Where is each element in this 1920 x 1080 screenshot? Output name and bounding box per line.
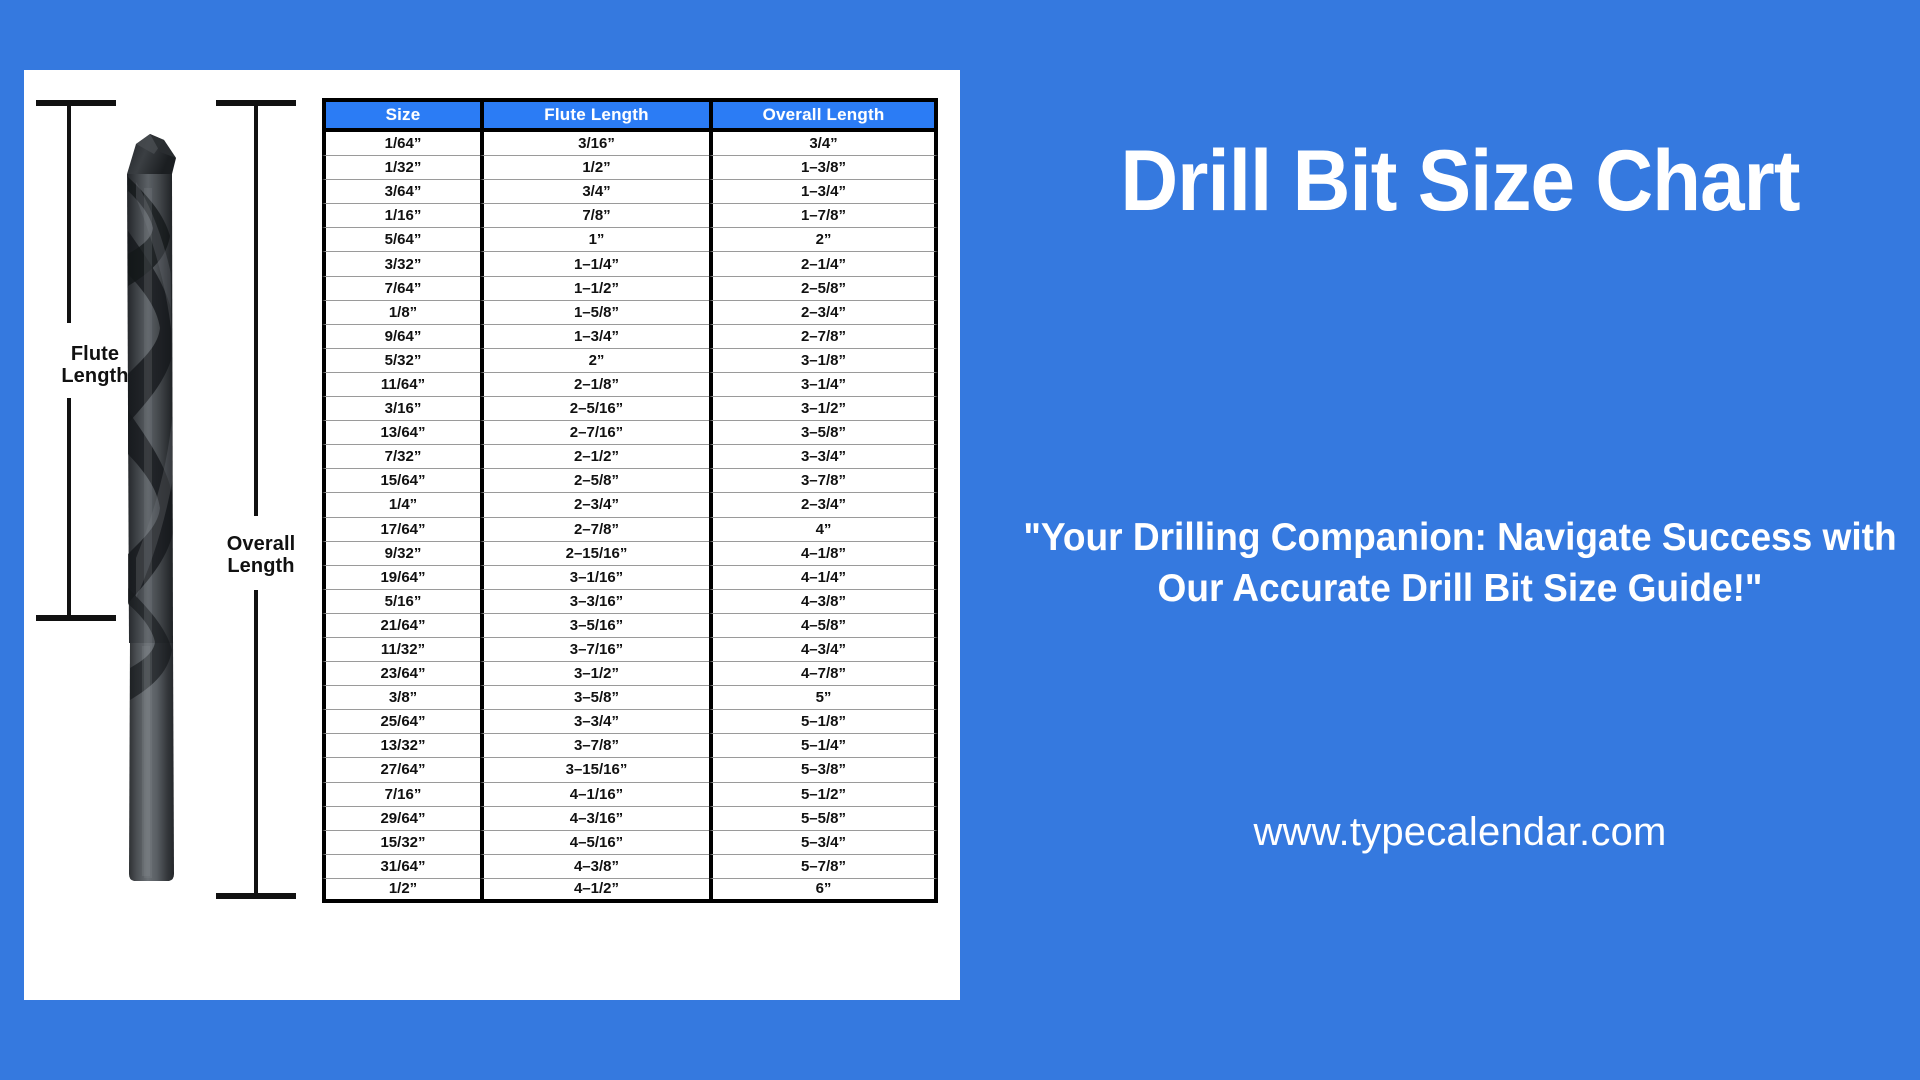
cell-flute-length: 2” bbox=[480, 349, 709, 373]
column-header-size: Size bbox=[322, 98, 480, 132]
cell-overall-length: 5–1/8” bbox=[709, 710, 938, 734]
cell-overall-length: 2–1/4” bbox=[709, 252, 938, 276]
drill-bit-figure: Flute Length Overall Length bbox=[24, 78, 324, 993]
cell-size: 3/32” bbox=[322, 252, 480, 276]
cell-overall-length: 1–3/8” bbox=[709, 156, 938, 180]
table-row: 3/8”3–5/8”5” bbox=[322, 686, 938, 710]
table-row: 7/32”2–1/2”3–3/4” bbox=[322, 445, 938, 469]
cell-flute-length: 3–1/2” bbox=[480, 662, 709, 686]
cell-flute-length: 3–3/16” bbox=[480, 590, 709, 614]
cell-flute-length: 2–5/8” bbox=[480, 469, 709, 493]
table-row: 1/8”1–5/8”2–3/4” bbox=[322, 301, 938, 325]
cell-size: 3/16” bbox=[322, 397, 480, 421]
table-row: 1/64”3/16”3/4” bbox=[322, 132, 938, 156]
cell-overall-length: 3/4” bbox=[709, 132, 938, 156]
cell-flute-length: 3–1/16” bbox=[480, 566, 709, 590]
cell-flute-length: 2–3/4” bbox=[480, 493, 709, 517]
cell-flute-length: 1–1/2” bbox=[480, 277, 709, 301]
table-row: 13/32”3–7/8”5–1/4” bbox=[322, 734, 938, 758]
drill-bit-size-table-container: Size Flute Length Overall Length 1/64”3/… bbox=[322, 98, 938, 903]
cell-overall-length: 4–5/8” bbox=[709, 614, 938, 638]
cell-flute-length: 2–5/16” bbox=[480, 397, 709, 421]
cell-size: 9/64” bbox=[322, 325, 480, 349]
cell-size: 1/16” bbox=[322, 204, 480, 228]
cell-flute-length: 1–5/8” bbox=[480, 301, 709, 325]
cell-size: 1/32” bbox=[322, 156, 480, 180]
cell-size: 5/16” bbox=[322, 590, 480, 614]
column-header-overall-length: Overall Length bbox=[709, 98, 938, 132]
cell-overall-length: 4–3/8” bbox=[709, 590, 938, 614]
cell-flute-length: 2–7/16” bbox=[480, 421, 709, 445]
cell-flute-length: 3–7/8” bbox=[480, 734, 709, 758]
table-row: 11/32”3–7/16”4–3/4” bbox=[322, 638, 938, 662]
table-row: 9/32”2–15/16”4–1/8” bbox=[322, 542, 938, 566]
cell-size: 7/64” bbox=[322, 277, 480, 301]
poster-canvas: Flute Length Overall Length Size Flute L… bbox=[0, 0, 1920, 1080]
table-row: 7/16”4–1/16”5–1/2” bbox=[322, 783, 938, 807]
cell-flute-length: 4–1/2” bbox=[480, 879, 709, 903]
cell-size: 3/64” bbox=[322, 180, 480, 204]
cell-flute-length: 2–15/16” bbox=[480, 542, 709, 566]
table-row: 13/64”2–7/16”3–5/8” bbox=[322, 421, 938, 445]
cell-flute-length: 3–5/16” bbox=[480, 614, 709, 638]
cell-size: 29/64” bbox=[322, 807, 480, 831]
cell-size: 9/32” bbox=[322, 542, 480, 566]
cell-size: 7/32” bbox=[322, 445, 480, 469]
cell-overall-length: 4–3/4” bbox=[709, 638, 938, 662]
cell-flute-length: 1–1/4” bbox=[480, 252, 709, 276]
cell-flute-length: 2–7/8” bbox=[480, 518, 709, 542]
overall-length-dimension bbox=[216, 103, 296, 896]
cell-size: 1/4” bbox=[322, 493, 480, 517]
cell-flute-length: 3–15/16” bbox=[480, 758, 709, 782]
overall-length-label: Overall Length bbox=[220, 533, 302, 578]
table-row: 25/64”3–3/4”5–1/8” bbox=[322, 710, 938, 734]
cell-overall-length: 3–1/8” bbox=[709, 349, 938, 373]
cell-flute-length: 3–7/16” bbox=[480, 638, 709, 662]
cell-overall-length: 5” bbox=[709, 686, 938, 710]
cell-overall-length: 5–7/8” bbox=[709, 855, 938, 879]
cell-flute-length: 4–1/16” bbox=[480, 783, 709, 807]
cell-size: 1/8” bbox=[322, 301, 480, 325]
cell-overall-length: 3–1/2” bbox=[709, 397, 938, 421]
cell-overall-length: 3–5/8” bbox=[709, 421, 938, 445]
table-body: 1/64”3/16”3/4”1/32”1/2”1–3/8”3/64”3/4”1–… bbox=[322, 132, 938, 903]
cell-flute-length: 3–5/8” bbox=[480, 686, 709, 710]
cell-flute-length: 1” bbox=[480, 228, 709, 252]
cell-size: 7/16” bbox=[322, 783, 480, 807]
flute-length-label-line1: Flute bbox=[56, 343, 134, 365]
table-row: 5/32”2”3–1/8” bbox=[322, 349, 938, 373]
cell-size: 11/64” bbox=[322, 373, 480, 397]
table-row: 5/16”3–3/16”4–3/8” bbox=[322, 590, 938, 614]
flute-length-label: Flute Length bbox=[56, 343, 134, 388]
cell-size: 23/64” bbox=[322, 662, 480, 686]
cell-flute-length: 4–5/16” bbox=[480, 831, 709, 855]
tagline-text: "Your Drilling Companion: Navigate Succe… bbox=[1023, 512, 1897, 615]
table-row: 23/64”3–1/2”4–7/8” bbox=[322, 662, 938, 686]
cell-overall-length: 4–1/8” bbox=[709, 542, 938, 566]
cell-overall-length: 3–1/4” bbox=[709, 373, 938, 397]
cell-overall-length: 6” bbox=[709, 879, 938, 903]
cell-flute-length: 2–1/2” bbox=[480, 445, 709, 469]
cell-size: 31/64” bbox=[322, 855, 480, 879]
table-row: 15/32”4–5/16”5–3/4” bbox=[322, 831, 938, 855]
table-header-row: Size Flute Length Overall Length bbox=[322, 98, 938, 132]
table-row: 11/64”2–1/8”3–1/4” bbox=[322, 373, 938, 397]
flute-length-label-line2: Length bbox=[56, 365, 134, 387]
cell-size: 21/64” bbox=[322, 614, 480, 638]
table-row: 3/64”3/4”1–3/4” bbox=[322, 180, 938, 204]
cell-overall-length: 5–1/4” bbox=[709, 734, 938, 758]
table-row: 7/64”1–1/2”2–5/8” bbox=[322, 277, 938, 301]
drill-bit-size-table: Size Flute Length Overall Length 1/64”3/… bbox=[322, 98, 938, 903]
cell-size: 25/64” bbox=[322, 710, 480, 734]
cell-size: 13/64” bbox=[322, 421, 480, 445]
cell-overall-length: 5–3/4” bbox=[709, 831, 938, 855]
table-row: 1/2”4–1/2”6” bbox=[322, 879, 938, 903]
cell-flute-length: 1–3/4” bbox=[480, 325, 709, 349]
table-row: 27/64”3–15/16”5–3/8” bbox=[322, 758, 938, 782]
cell-flute-length: 2–1/8” bbox=[480, 373, 709, 397]
cell-flute-length: 3–3/4” bbox=[480, 710, 709, 734]
table-row: 3/32”1–1/4”2–1/4” bbox=[322, 252, 938, 276]
table-row: 1/16”7/8”1–7/8” bbox=[322, 204, 938, 228]
cell-overall-length: 1–7/8” bbox=[709, 204, 938, 228]
table-row: 5/64”1”2” bbox=[322, 228, 938, 252]
bit-body bbox=[124, 134, 182, 881]
cell-size: 27/64” bbox=[322, 758, 480, 782]
cell-overall-length: 4–7/8” bbox=[709, 662, 938, 686]
page-title: Drill Bit Size Chart bbox=[1051, 138, 1869, 224]
cell-size: 17/64” bbox=[322, 518, 480, 542]
cell-flute-length: 3/4” bbox=[480, 180, 709, 204]
cell-overall-length: 1–3/4” bbox=[709, 180, 938, 204]
column-header-flute-length: Flute Length bbox=[480, 98, 709, 132]
table-row: 1/32”1/2”1–3/8” bbox=[322, 156, 938, 180]
table-row: 3/16”2–5/16”3–1/2” bbox=[322, 397, 938, 421]
cell-flute-length: 4–3/16” bbox=[480, 807, 709, 831]
cell-overall-length: 4” bbox=[709, 518, 938, 542]
table-row: 31/64”4–3/8”5–7/8” bbox=[322, 855, 938, 879]
cell-overall-length: 5–5/8” bbox=[709, 807, 938, 831]
cell-overall-length: 2–3/4” bbox=[709, 493, 938, 517]
table-row: 29/64”4–3/16”5–5/8” bbox=[322, 807, 938, 831]
table-row: 1/4”2–3/4”2–3/4” bbox=[322, 493, 938, 517]
cell-flute-length: 4–3/8” bbox=[480, 855, 709, 879]
cell-size: 15/64” bbox=[322, 469, 480, 493]
cell-flute-length: 1/2” bbox=[480, 156, 709, 180]
cell-overall-length: 2–7/8” bbox=[709, 325, 938, 349]
table-row: 15/64”2–5/8”3–7/8” bbox=[322, 469, 938, 493]
overall-length-label-line1: Overall bbox=[220, 533, 302, 555]
cell-size: 3/8” bbox=[322, 686, 480, 710]
table-row: 21/64”3–5/16”4–5/8” bbox=[322, 614, 938, 638]
cell-overall-length: 5–1/2” bbox=[709, 783, 938, 807]
website-url: www.typecalendar.com bbox=[1000, 810, 1920, 855]
cell-size: 1/64” bbox=[322, 132, 480, 156]
cell-overall-length: 3–7/8” bbox=[709, 469, 938, 493]
cell-size: 11/32” bbox=[322, 638, 480, 662]
cell-size: 19/64” bbox=[322, 566, 480, 590]
cell-flute-length: 7/8” bbox=[480, 204, 709, 228]
cell-overall-length: 5–3/8” bbox=[709, 758, 938, 782]
cell-flute-length: 3/16” bbox=[480, 132, 709, 156]
overall-length-label-line2: Length bbox=[220, 555, 302, 577]
table-row: 19/64”3–1/16”4–1/4” bbox=[322, 566, 938, 590]
table-row: 9/64”1–3/4”2–7/8” bbox=[322, 325, 938, 349]
cell-overall-length: 2–5/8” bbox=[709, 277, 938, 301]
cell-size: 15/32” bbox=[322, 831, 480, 855]
cell-size: 13/32” bbox=[322, 734, 480, 758]
cell-overall-length: 2–3/4” bbox=[709, 301, 938, 325]
cell-size: 5/64” bbox=[322, 228, 480, 252]
cell-overall-length: 3–3/4” bbox=[709, 445, 938, 469]
cell-size: 1/2” bbox=[322, 879, 480, 903]
table-row: 17/64”2–7/8”4” bbox=[322, 518, 938, 542]
cell-overall-length: 4–1/4” bbox=[709, 566, 938, 590]
table-header: Size Flute Length Overall Length bbox=[322, 98, 938, 132]
cell-overall-length: 2” bbox=[709, 228, 938, 252]
cell-size: 5/32” bbox=[322, 349, 480, 373]
